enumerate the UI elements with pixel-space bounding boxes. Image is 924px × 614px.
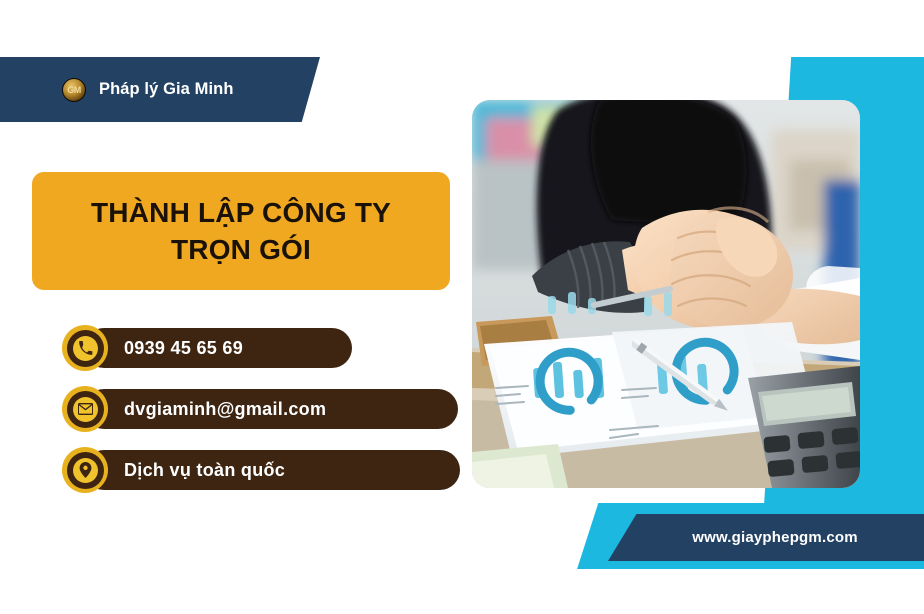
envelope-icon xyxy=(73,397,98,422)
map-pin-icon xyxy=(73,458,98,483)
email-badge-ring xyxy=(67,391,104,428)
phone-icon xyxy=(73,336,98,361)
location-pill: Dịch vụ toàn quốc xyxy=(84,450,460,490)
headline-box: THÀNH LẬP CÔNG TY TRỌN GÓI xyxy=(32,172,450,290)
email-badge xyxy=(62,386,108,432)
contact-row-phone[interactable]: 0939 45 65 69 xyxy=(62,325,108,371)
email-pill: dvgiaminh@gmail.com xyxy=(84,389,458,429)
service-area-text: Dịch vụ toàn quốc xyxy=(124,460,285,481)
phone-pill: 0939 45 65 69 xyxy=(84,328,352,368)
email-address-text: dvgiaminh@gmail.com xyxy=(124,399,326,420)
footer-bar: www.giayphepgm.com xyxy=(608,514,924,561)
headline-line-2: TRỌN GÓI xyxy=(171,231,311,268)
phone-badge xyxy=(62,325,108,371)
phone-badge-ring xyxy=(67,330,104,367)
contact-row-email[interactable]: dvgiaminh@gmail.com xyxy=(62,386,108,432)
header-bar: GM Pháp lý Gia Minh xyxy=(0,57,320,122)
headline-line-1: THÀNH LẬP CÔNG TY xyxy=(91,194,391,231)
location-badge-ring xyxy=(67,452,104,489)
phone-number-text: 0939 45 65 69 xyxy=(124,338,243,359)
website-url[interactable]: www.giayphepgm.com xyxy=(674,529,858,546)
promotional-banner: GM Pháp lý Gia Minh THÀNH LẬP CÔNG TY TR… xyxy=(0,0,924,614)
contact-row-location[interactable]: Dịch vụ toàn quốc xyxy=(62,447,108,493)
brand-name: Pháp lý Gia Minh xyxy=(99,80,234,99)
circular-emblem-icon: GM xyxy=(62,78,86,102)
hero-photo xyxy=(472,100,860,488)
location-badge xyxy=(62,447,108,493)
logo-glyph-text: GM xyxy=(63,79,85,101)
